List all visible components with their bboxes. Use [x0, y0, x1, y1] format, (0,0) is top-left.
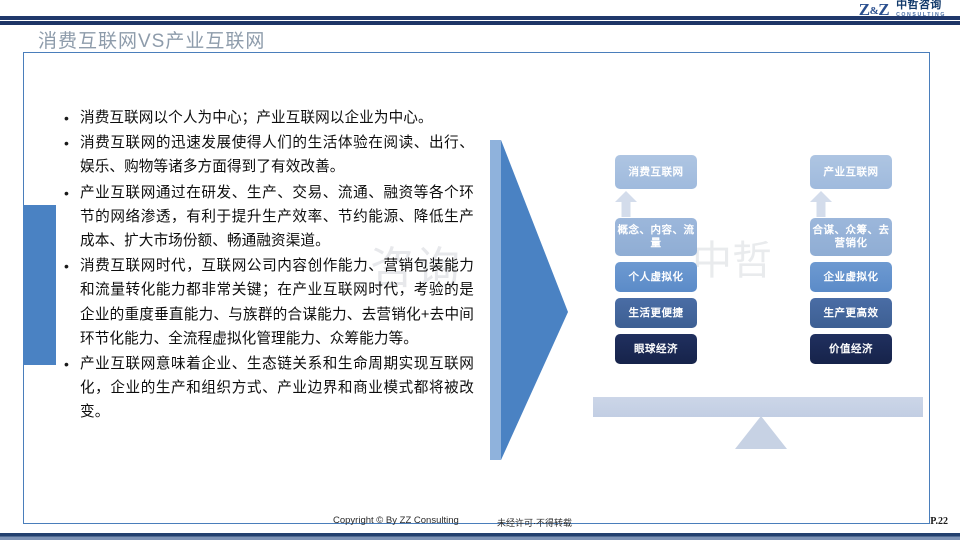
bullet-text: 消费互联网的迅速发展使得人们的生活体验在阅读、出行、娱乐、购物等诸多方面得到了有…: [80, 131, 474, 179]
bullet-marker-icon: •: [64, 352, 80, 376]
bullet-text: 消费互联网时代，互联网公司内容创作能力、营销包装能力和流量转化能力都非常关键；在…: [80, 254, 474, 351]
bullet-text: 消费互联网以个人为中心；产业互联网以企业为中心。: [80, 106, 474, 130]
list-item: • 产业互联网意味着企业、生态链关系和生命周期实现互联网化，企业的生产和组织方式…: [64, 352, 474, 425]
bullet-list: • 消费互联网以个人为中心；产业互联网以企业为中心。 • 消费互联网的迅速发展使…: [64, 106, 474, 426]
bullet-marker-icon: •: [64, 254, 80, 278]
diagram-column-consumer: 消费互联网 概念、内容、流量 个人虚拟化 生活更便捷 眼球经济: [615, 155, 697, 364]
node-consumer-level-4: 眼球经济: [615, 334, 697, 364]
list-item: • 消费互联网的迅速发展使得人们的生活体验在阅读、出行、娱乐、购物等诸多方面得到…: [64, 131, 474, 179]
node-industrial-top: 产业互联网: [810, 155, 892, 189]
node-industrial-level-1: 合谋、众筹、去营销化: [810, 218, 892, 256]
large-right-arrow-icon: [490, 140, 580, 460]
page-number: P.22: [930, 516, 948, 527]
node-consumer-level-3: 生活更便捷: [615, 298, 697, 328]
bottom-brand-band: [0, 533, 960, 540]
node-consumer-top: 消费互联网: [615, 155, 697, 189]
up-arrow-icon-left: [615, 191, 637, 217]
bullet-marker-icon: •: [64, 106, 80, 130]
bullet-text: 产业互联网通过在研发、生产、交易、流通、融资等各个环节的网络渗透，有利于提升生产…: [80, 181, 474, 254]
top-brand-band: [0, 16, 960, 25]
list-item: • 消费互联网以个人为中心；产业互联网以企业为中心。: [64, 106, 474, 130]
node-consumer-level-2: 个人虚拟化: [615, 262, 697, 292]
footer-notice: 未经许可·不得转载: [497, 516, 572, 529]
footer-copyright: Copyright © By ZZ Consulting: [333, 515, 459, 526]
logo-zz-mark: Z&Z: [859, 1, 889, 18]
left-accent-block: [23, 205, 56, 365]
page-title: 消费互联网VS产业互联网: [38, 26, 265, 53]
list-item: • 消费互联网时代，互联网公司内容创作能力、营销包装能力和流量转化能力都非常关键…: [64, 254, 474, 351]
balance-beam: [593, 397, 923, 417]
logo-english-name: CONSULTING: [896, 13, 946, 18]
node-industrial-level-3: 生产更高效: [810, 298, 892, 328]
node-consumer-level-1: 概念、内容、流量: [615, 218, 697, 256]
logo-z-first: Z: [859, 0, 870, 19]
logo-ampersand: &: [870, 5, 879, 17]
logo-z-second: Z: [878, 0, 889, 19]
node-industrial-level-2: 企业虚拟化: [810, 262, 892, 292]
node-industrial-level-4: 价值经济: [810, 334, 892, 364]
comparison-diagram: 消费互联网 概念、内容、流量 个人虚拟化 生活更便捷 眼球经济 产业互联网 合谋…: [585, 145, 930, 465]
list-item: • 产业互联网通过在研发、生产、交易、流通、融资等各个环节的网络渗透，有利于提升…: [64, 181, 474, 254]
logo-chinese-name: 中哲咨询: [896, 0, 946, 11]
bullet-text: 产业互联网意味着企业、生态链关系和生命周期实现互联网化，企业的生产和组织方式、产…: [80, 352, 474, 425]
diagram-column-industrial: 产业互联网 合谋、众筹、去营销化 企业虚拟化 生产更高效 价值经济: [810, 155, 892, 364]
bullet-marker-icon: •: [64, 131, 80, 155]
bullet-marker-icon: •: [64, 181, 80, 205]
company-logo: Z&Z 中哲咨询 CONSULTING: [859, 0, 946, 18]
balance-fulcrum-icon: [735, 416, 787, 449]
logo-text-block: 中哲咨询 CONSULTING: [896, 0, 946, 18]
up-arrow-icon-right: [810, 191, 832, 217]
